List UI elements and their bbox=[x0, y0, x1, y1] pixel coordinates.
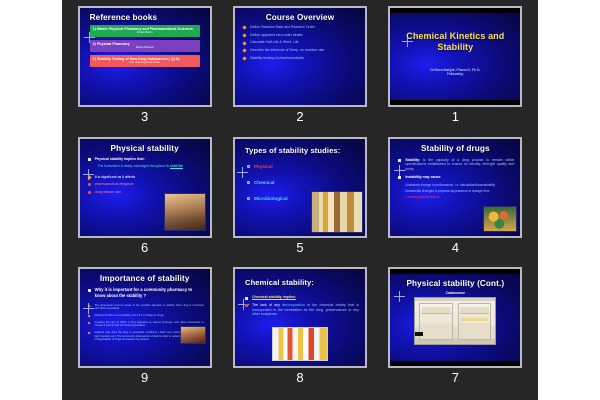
slide-number-7: 7 bbox=[452, 371, 459, 384]
lab-photo bbox=[164, 193, 206, 231]
slide-7-content: Physical stability (Cont.) Coalescence bbox=[390, 269, 520, 366]
chemical-stability-body-start: The lack of any bbox=[252, 303, 282, 307]
list-item: Stability: is the capacity of a drug pro… bbox=[398, 158, 514, 172]
diamond-bullet-icon bbox=[242, 57, 246, 61]
author-line-2: Fellowship; bbox=[430, 72, 480, 76]
slide-1-title: Chemical Kinetics and Stability bbox=[401, 31, 510, 53]
slide-cell-4[interactable]: Stability of drugs Stability: is the cap… bbox=[381, 137, 530, 264]
slide-6-content: Physical stability Physical stability im… bbox=[80, 139, 210, 236]
list-item: Chemical stability implies: bbox=[245, 295, 359, 300]
slide-2-title: Course Overview bbox=[241, 13, 359, 22]
instability-item-2-row: - Substantial changes in physical appear… bbox=[396, 189, 514, 193]
importance-point-1: The pharmacist must be aware of the poss… bbox=[95, 304, 204, 310]
glassware-photo bbox=[311, 191, 363, 233]
physical-stability-detail: The formulation is totally unchanged thr… bbox=[86, 164, 204, 168]
slide-thumbnail-1[interactable]: Chemical Kinetics and Stability Dr.Reza … bbox=[388, 6, 522, 107]
physical-stability-lead: Physical stability implies that: bbox=[95, 157, 145, 161]
slide-number-8: 8 bbox=[296, 371, 303, 384]
slide-cell-7[interactable]: Physical stability (Cont.) Coalescence 7 bbox=[381, 267, 530, 394]
list-item: Define Reaction Rate and Reaction Order bbox=[243, 25, 359, 30]
diamond-bullet-icon bbox=[242, 49, 246, 53]
slide-thumbnail-7[interactable]: Physical stability (Cont.) Coalescence bbox=[388, 267, 522, 368]
slide-1-content: Chemical Kinetics and Stability Dr.Reza … bbox=[390, 8, 520, 105]
physical-stability-item-1: pharmaceutical elegance bbox=[95, 182, 134, 186]
stability-definition: is the capacity of a drug product to rem… bbox=[405, 158, 514, 171]
cream-jar-right bbox=[458, 303, 492, 340]
coalescence-figure: Coalescence bbox=[396, 291, 514, 345]
slide-thumbnail-6[interactable]: Physical stability Physical stability im… bbox=[78, 137, 212, 238]
slide-thumbnail-4[interactable]: Stability of drugs Stability: is the cap… bbox=[388, 137, 522, 238]
slide-5-title: Types of stability studies: bbox=[241, 146, 359, 155]
slide-number-6: 6 bbox=[141, 241, 148, 254]
reference-book-3-author: ICH Steering Committee bbox=[93, 61, 197, 64]
course-overview-list: Define Reaction Rate and Reaction Order … bbox=[243, 25, 359, 60]
list-item: Maintain 15-30 to room stability and 2-8… bbox=[88, 314, 204, 317]
importance-question: Why it is important for a community phar… bbox=[95, 287, 193, 298]
physical-stability-item-2: drug release rate. bbox=[95, 190, 122, 194]
stability-type-microbiological: Microbiological bbox=[254, 196, 288, 201]
slide-3-title: Reference books bbox=[86, 13, 204, 22]
physical-stability-effects: It is significant as it affects pharmace… bbox=[88, 175, 204, 195]
slide-3-content: Reference books 1) Martin Physical Pharm… bbox=[80, 8, 210, 105]
course-overview-item-2: Define apparent zero-order kinetic bbox=[250, 33, 303, 37]
slide-thumbnail-3[interactable]: Reference books 1) Martin Physical Pharm… bbox=[78, 6, 212, 107]
slide-cell-3[interactable]: Reference books 1) Martin Physical Pharm… bbox=[70, 6, 219, 133]
coalescence-label: Coalescence bbox=[446, 291, 466, 295]
reference-book-2-author: David Attwood bbox=[93, 46, 197, 49]
chemical-stability-list: Chemical stability implies: The lack of … bbox=[245, 295, 359, 316]
course-overview-item-5: Stability testing of pharmaceuticals bbox=[250, 56, 304, 60]
slide-number-2: 2 bbox=[296, 110, 303, 123]
community-photo bbox=[180, 326, 206, 344]
list-item: Why it is important for a community phar… bbox=[88, 287, 204, 298]
slide-7-title: Physical stability (Cont.) bbox=[396, 279, 514, 288]
stability-term: Stability: bbox=[405, 158, 420, 162]
slide-number-3: 3 bbox=[141, 110, 148, 123]
stability-definition-list: Stability: is the capacity of a drug pro… bbox=[398, 158, 514, 180]
slide-number-4: 4 bbox=[452, 241, 459, 254]
list-item: Physical stability implies that: bbox=[88, 157, 204, 162]
list-item: Chemical bbox=[247, 180, 359, 186]
instability-heading: Instability may cause bbox=[405, 175, 440, 179]
stability-type-physical: Physical bbox=[254, 164, 273, 169]
slide-9-title: Importance of stability bbox=[86, 274, 204, 283]
shelf-life-link[interactable]: shelf life bbox=[170, 164, 183, 168]
list-item: Describe the influence of Temp. on react… bbox=[243, 48, 359, 53]
slide-cell-1[interactable]: Chemical Kinetics and Stability Dr.Reza … bbox=[381, 6, 530, 133]
circle-bullet-icon bbox=[247, 181, 250, 184]
list-item: Stability testing of pharmaceuticals bbox=[243, 56, 359, 61]
slide-cell-2[interactable]: Course Overview Define Reaction Rate and… bbox=[225, 6, 374, 133]
slide-8-content: Chemical stability: Chemical stability i… bbox=[235, 269, 365, 366]
physical-stability-list: Physical stability implies that: bbox=[88, 157, 204, 162]
circle-bullet-icon bbox=[247, 165, 250, 168]
square-bullet-icon bbox=[245, 304, 248, 307]
instability-item-1-row: - Undesired change in performance, i.e. … bbox=[396, 183, 514, 187]
black-marker bbox=[415, 332, 423, 336]
physical-stability-detail-text: The formulation is totally unchanged thr… bbox=[98, 164, 169, 168]
slide-4-title: Stability of drugs bbox=[396, 144, 514, 153]
cream-jars-photo bbox=[414, 297, 496, 345]
square-bullet-icon bbox=[245, 297, 248, 300]
square-bullet-icon bbox=[88, 289, 91, 292]
list-item: It is significant as it affects bbox=[88, 175, 204, 180]
diamond-bullet-icon bbox=[242, 33, 246, 37]
slide-cell-6[interactable]: Physical stability Physical stability im… bbox=[70, 137, 219, 264]
reference-book-2: 2) Physical Pharmacy David Attwood bbox=[90, 40, 200, 52]
reference-book-3: 3) Stability Testing of New Drug Substan… bbox=[90, 55, 200, 67]
circle-bullet-icon bbox=[247, 197, 250, 200]
instability-item-3-row: - Causing product failures bbox=[396, 195, 514, 199]
reference-book-1: 1) Martin Physical Pharmacy and Pharmace… bbox=[90, 25, 200, 37]
test-tubes-photo bbox=[272, 327, 328, 361]
importance-question-list: Why it is important for a community phar… bbox=[88, 287, 204, 298]
slide-9-content: Importance of stability Why it is import… bbox=[80, 269, 210, 366]
importance-point-2: Maintain 15-30 to room stability and 2-8… bbox=[95, 314, 164, 317]
square-bullet-icon bbox=[398, 159, 401, 162]
slide-cell-8[interactable]: Chemical stability: Chemical stability i… bbox=[225, 267, 374, 394]
slide-viewer-canvas: Reference books 1) Martin Physical Pharm… bbox=[62, 0, 538, 400]
diamond-bullet-icon bbox=[87, 304, 90, 307]
slide-cell-5[interactable]: Types of stability studies: Physical Che… bbox=[225, 137, 374, 264]
slide-number-9: 9 bbox=[141, 371, 148, 384]
cream-jar-left bbox=[419, 303, 453, 340]
diamond-bullet-icon bbox=[87, 322, 90, 325]
course-overview-item-1: Define Reaction Rate and Reaction Order bbox=[250, 25, 315, 29]
list-item: Calculate Half-Life & Shelf- Life bbox=[243, 40, 359, 45]
capsules-photo bbox=[483, 206, 517, 232]
list-item: The lack of any decomposition in the che… bbox=[245, 303, 359, 317]
instability-item-2: Substantial changes in physical appearan… bbox=[405, 189, 489, 193]
instability-item-1: Undesired change in performance, i.e. di… bbox=[405, 183, 495, 187]
slide-number-1: 1 bbox=[452, 110, 459, 123]
course-overview-item-3: Calculate Half-Life & Shelf- Life bbox=[250, 40, 299, 44]
list-item: Define apparent zero-order kinetic bbox=[243, 33, 359, 38]
reference-book-2-label: 2) Physical Pharmacy bbox=[93, 42, 130, 46]
dot-bullet-icon bbox=[88, 183, 91, 186]
reference-book-1-author: Alfred Martin bbox=[93, 31, 197, 34]
list-item: Instability may cause bbox=[398, 175, 514, 180]
physical-stability-mid: It is significant as it affects bbox=[95, 175, 136, 179]
list-item: The pharmacist must be aware of the poss… bbox=[88, 304, 204, 311]
slide-thumbnail-5[interactable]: Types of stability studies: Physical Che… bbox=[233, 137, 367, 238]
slide-4-content: Stability of drugs Stability: is the cap… bbox=[390, 139, 520, 236]
slide-2-content: Course Overview Define Reaction Rate and… bbox=[235, 8, 365, 105]
diamond-bullet-icon bbox=[87, 332, 90, 335]
slide-6-title: Physical stability bbox=[86, 144, 204, 153]
list-item: pharmaceutical elegance bbox=[88, 182, 204, 187]
slide-8-title: Chemical stability: bbox=[241, 278, 359, 287]
slide-thumbnail-2[interactable]: Course Overview Define Reaction Rate and… bbox=[233, 6, 367, 107]
diamond-bullet-icon bbox=[242, 26, 246, 30]
course-overview-item-4: Describe the influence of Temp. on react… bbox=[250, 48, 324, 52]
slide-thumbnail-9[interactable]: Importance of stability Why it is import… bbox=[78, 267, 212, 368]
instability-item-red: Causing product failures bbox=[405, 195, 439, 199]
slide-thumbnail-8[interactable]: Chemical stability: Chemical stability i… bbox=[233, 267, 367, 368]
square-bullet-icon bbox=[398, 176, 401, 179]
diamond-bullet-icon bbox=[242, 41, 246, 45]
chemical-stability-body-highlight: decomposition bbox=[282, 303, 305, 307]
slide-cell-9[interactable]: Importance of stability Why it is import… bbox=[70, 267, 219, 394]
dot-bullet-icon bbox=[88, 191, 91, 194]
stability-type-chemical: Chemical bbox=[254, 180, 274, 185]
diamond-bullet-icon bbox=[87, 175, 91, 179]
chemical-stability-lead: Chemical stability implies: bbox=[252, 295, 296, 299]
square-bullet-icon bbox=[88, 158, 91, 161]
slide-5-content: Types of stability studies: Physical Che… bbox=[235, 139, 365, 236]
diamond-bullet-icon bbox=[87, 315, 90, 318]
slide-grid: Reference books 1) Martin Physical Pharm… bbox=[62, 0, 538, 400]
list-item: Physical bbox=[247, 164, 359, 170]
slide-number-5: 5 bbox=[296, 241, 303, 254]
